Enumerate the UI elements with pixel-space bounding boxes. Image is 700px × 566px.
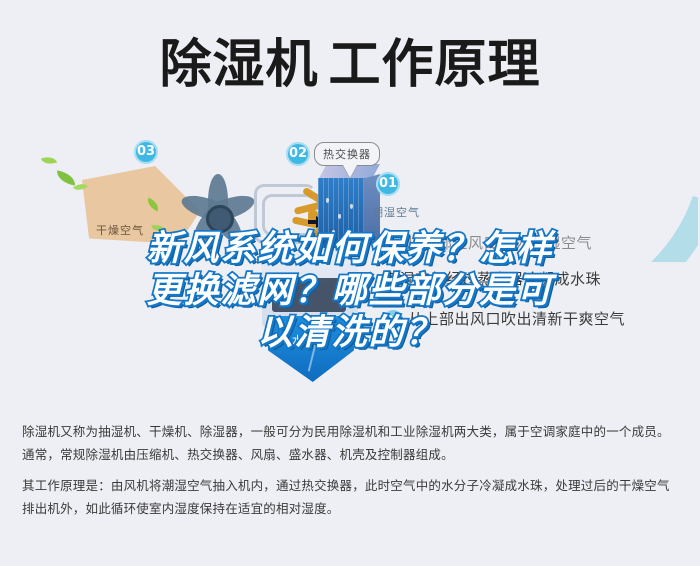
leaf-icon: [55, 170, 77, 185]
body-paragraph-2: 其工作原理是：由风机将潮湿空气抽入机内，通过热交换器，此时空气中的水分子冷凝成水…: [22, 474, 682, 520]
heat-exchanger-callout: 热交换器: [314, 142, 380, 166]
dehumidifier-diagram: 干燥空气: [0, 128, 700, 413]
step-badge-01: 01: [376, 172, 400, 196]
water-droplet-icon: [350, 204, 353, 209]
water-droplet-icon: [326, 198, 329, 203]
body-paragraph-1: 除湿机又称为抽湿机、干燥机、除湿器，一般可分为民用除湿机和工业除湿机两大类，属于…: [22, 420, 682, 466]
water-droplet-icon: [354, 234, 357, 239]
water-droplet-icon: [338, 214, 341, 219]
step-badge-02: 02: [286, 142, 310, 166]
page-title-part2: 工作原理: [329, 35, 541, 95]
caption-text-02: 潮湿空气经过蒸发器冷凝成水珠: [384, 270, 601, 288]
caption-badge-01: 01: [382, 234, 401, 253]
poster-root: 除湿机工作原理 干燥空气: [0, 0, 700, 566]
water-droplet-icon: [332, 230, 335, 235]
leaf-icon: [41, 154, 57, 167]
water-tank-graphic: 水箱: [268, 316, 354, 382]
wet-air-label: 潮湿空气: [372, 204, 420, 220]
dry-air-label: 干燥空气: [96, 222, 144, 238]
diagram-caption-02: 潮湿空气经过蒸发器冷凝成水珠: [384, 268, 601, 289]
fan-hub: [206, 205, 234, 233]
diagram-caption-03: 03从上部出风口吹出清新干爽空气: [384, 308, 625, 329]
water-tank-label: 水箱: [292, 332, 318, 348]
water-tank-body: [268, 316, 354, 382]
step-badge-03: 03: [134, 140, 158, 164]
caption-badge-03: 03: [384, 310, 403, 329]
dehumidifier-panel: [272, 278, 346, 312]
page-title-part1: 除湿机: [159, 35, 318, 95]
caption-text-03: 从上部出风口吹出清新干爽空气: [408, 310, 625, 328]
caption-text-01: 从下部进风口吸入潮湿空气: [406, 234, 592, 252]
page-title: 除湿机工作原理: [0, 30, 700, 100]
heat-exchanger-fins: [318, 178, 366, 250]
diagram-caption-01: 01从下部进风口吸入潮湿空气: [382, 232, 592, 253]
